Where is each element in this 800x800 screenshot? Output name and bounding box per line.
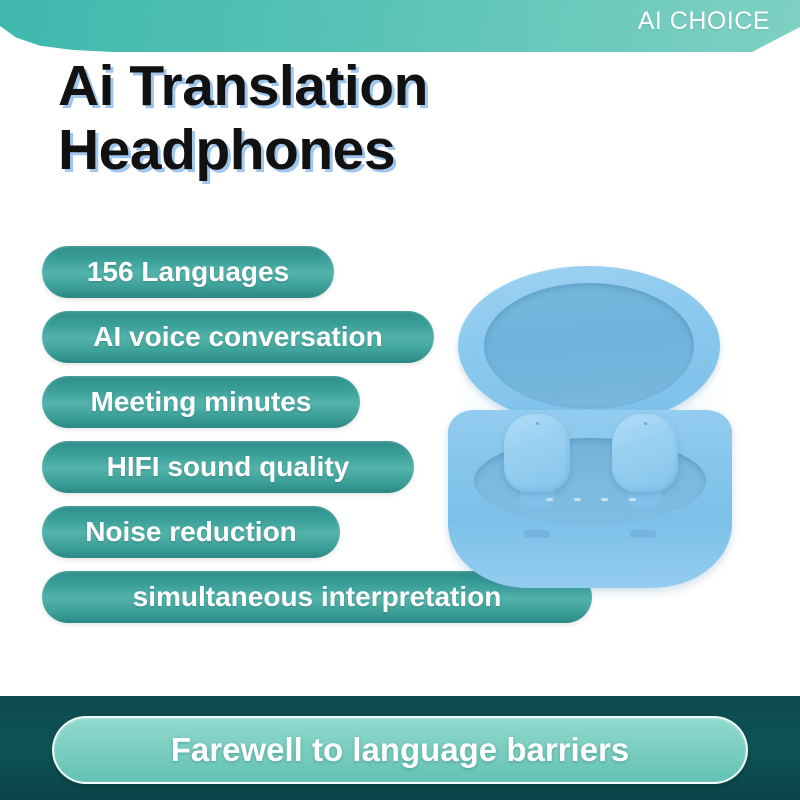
- title-line-2: Headphones: [58, 118, 578, 182]
- led-indicator: [629, 498, 636, 501]
- battery-led-indicators: [546, 498, 636, 501]
- feature-pill-noise-reduction: Noise reduction: [42, 506, 340, 558]
- charging-case-lid-inner: [484, 283, 694, 409]
- feature-pill-ai-voice-conversation: AI voice conversation: [42, 311, 434, 363]
- ai-choice-badge-label: AI CHOICE: [638, 7, 770, 36]
- title-line-1: Ai Translation: [58, 54, 578, 118]
- product-advertisement-poster: AI CHOICE Ai Translation Headphones 156 …: [0, 0, 800, 800]
- feature-pill-languages: 156 Languages: [42, 246, 334, 298]
- feature-pill-label: AI voice conversation: [93, 321, 382, 353]
- cta-button[interactable]: Farewell to language barriers: [52, 716, 748, 784]
- case-hinge-left: [524, 530, 550, 538]
- earbud-right: [612, 414, 678, 492]
- feature-pill-label: Meeting minutes: [91, 386, 312, 418]
- earbud-left: [504, 414, 570, 492]
- feature-pill-label: 156 Languages: [87, 256, 289, 288]
- product-image-earbuds-case: [440, 262, 740, 592]
- led-indicator: [546, 498, 553, 501]
- feature-pill-label: Noise reduction: [85, 516, 297, 548]
- feature-pill-meeting-minutes: Meeting minutes: [42, 376, 360, 428]
- earbud-microphone-dot: [644, 422, 647, 425]
- cta-button-label: Farewell to language barriers: [171, 731, 630, 769]
- bottom-banner: Farewell to language barriers: [0, 696, 800, 800]
- led-indicator: [574, 498, 581, 501]
- earbud-microphone-dot: [536, 422, 539, 425]
- led-indicator: [601, 498, 608, 501]
- feature-pill-hifi-sound-quality: HIFI sound quality: [42, 441, 414, 493]
- top-banner: AI CHOICE: [0, 0, 800, 52]
- page-title: Ai Translation Headphones: [58, 54, 578, 183]
- charging-case-lid: [458, 266, 720, 426]
- feature-pill-label: HIFI sound quality: [107, 451, 350, 483]
- case-hinge-right: [630, 530, 656, 538]
